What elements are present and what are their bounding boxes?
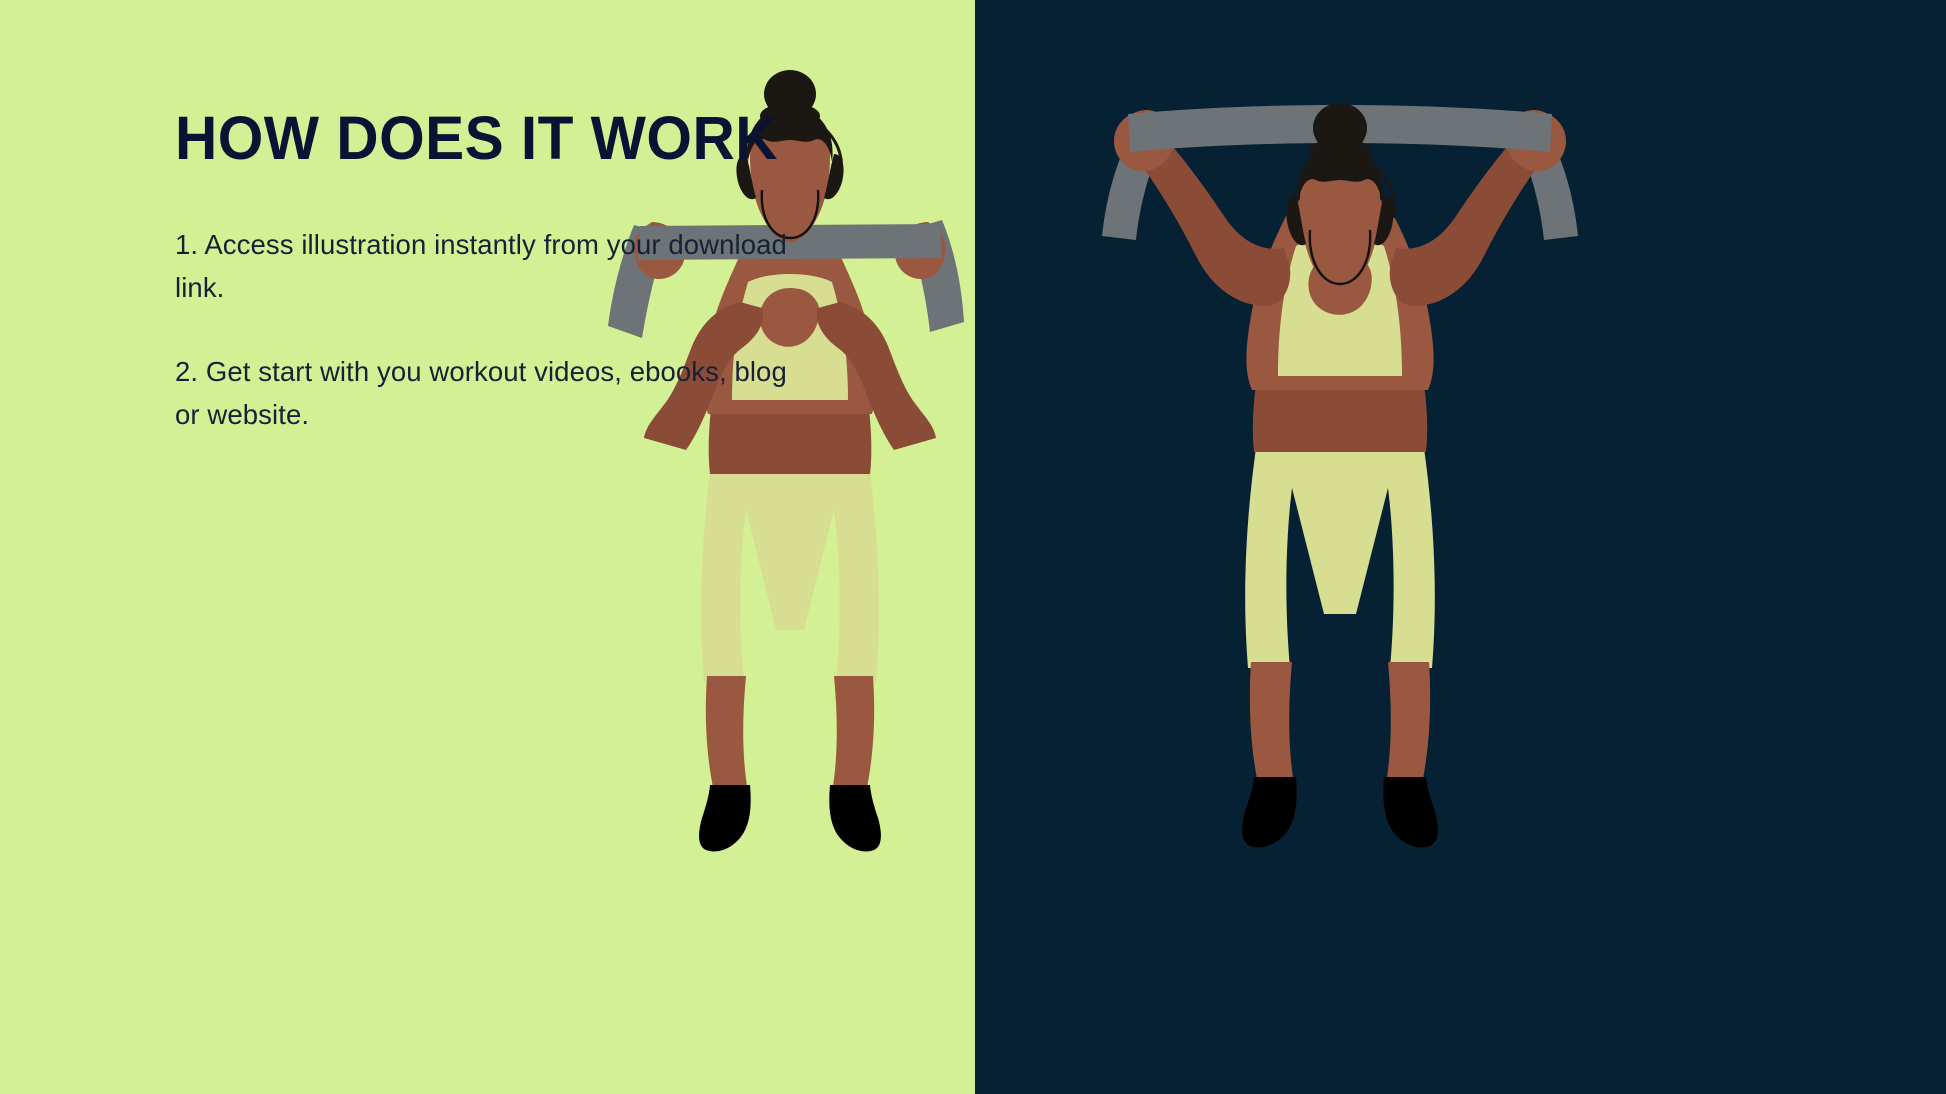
page-title: HOW DOES IT WORK (175, 108, 770, 169)
lower-leg-right (1386, 662, 1430, 784)
shoe-left (1242, 777, 1297, 847)
shoe-right (1383, 777, 1438, 847)
woman-resistance-band-overhead (1060, 40, 1620, 880)
text-content-block: HOW DOES IT WORK 1. Access illustration … (175, 108, 795, 437)
lower-leg-left (1250, 662, 1294, 784)
leggings (701, 470, 879, 682)
lower-leg-right (832, 676, 874, 792)
leggings (1245, 448, 1435, 668)
shoe-left (699, 785, 751, 852)
hair-bun-base (1309, 138, 1371, 166)
lower-leg-left (706, 676, 748, 792)
step-item-2: 2. Get start with you workout videos, eb… (175, 351, 795, 436)
slide-canvas: HOW DOES IT WORK 1. Access illustration … (0, 0, 1946, 1094)
shoe-right (829, 785, 881, 852)
step-item-1: 1. Access illustration instantly from yo… (175, 224, 795, 309)
